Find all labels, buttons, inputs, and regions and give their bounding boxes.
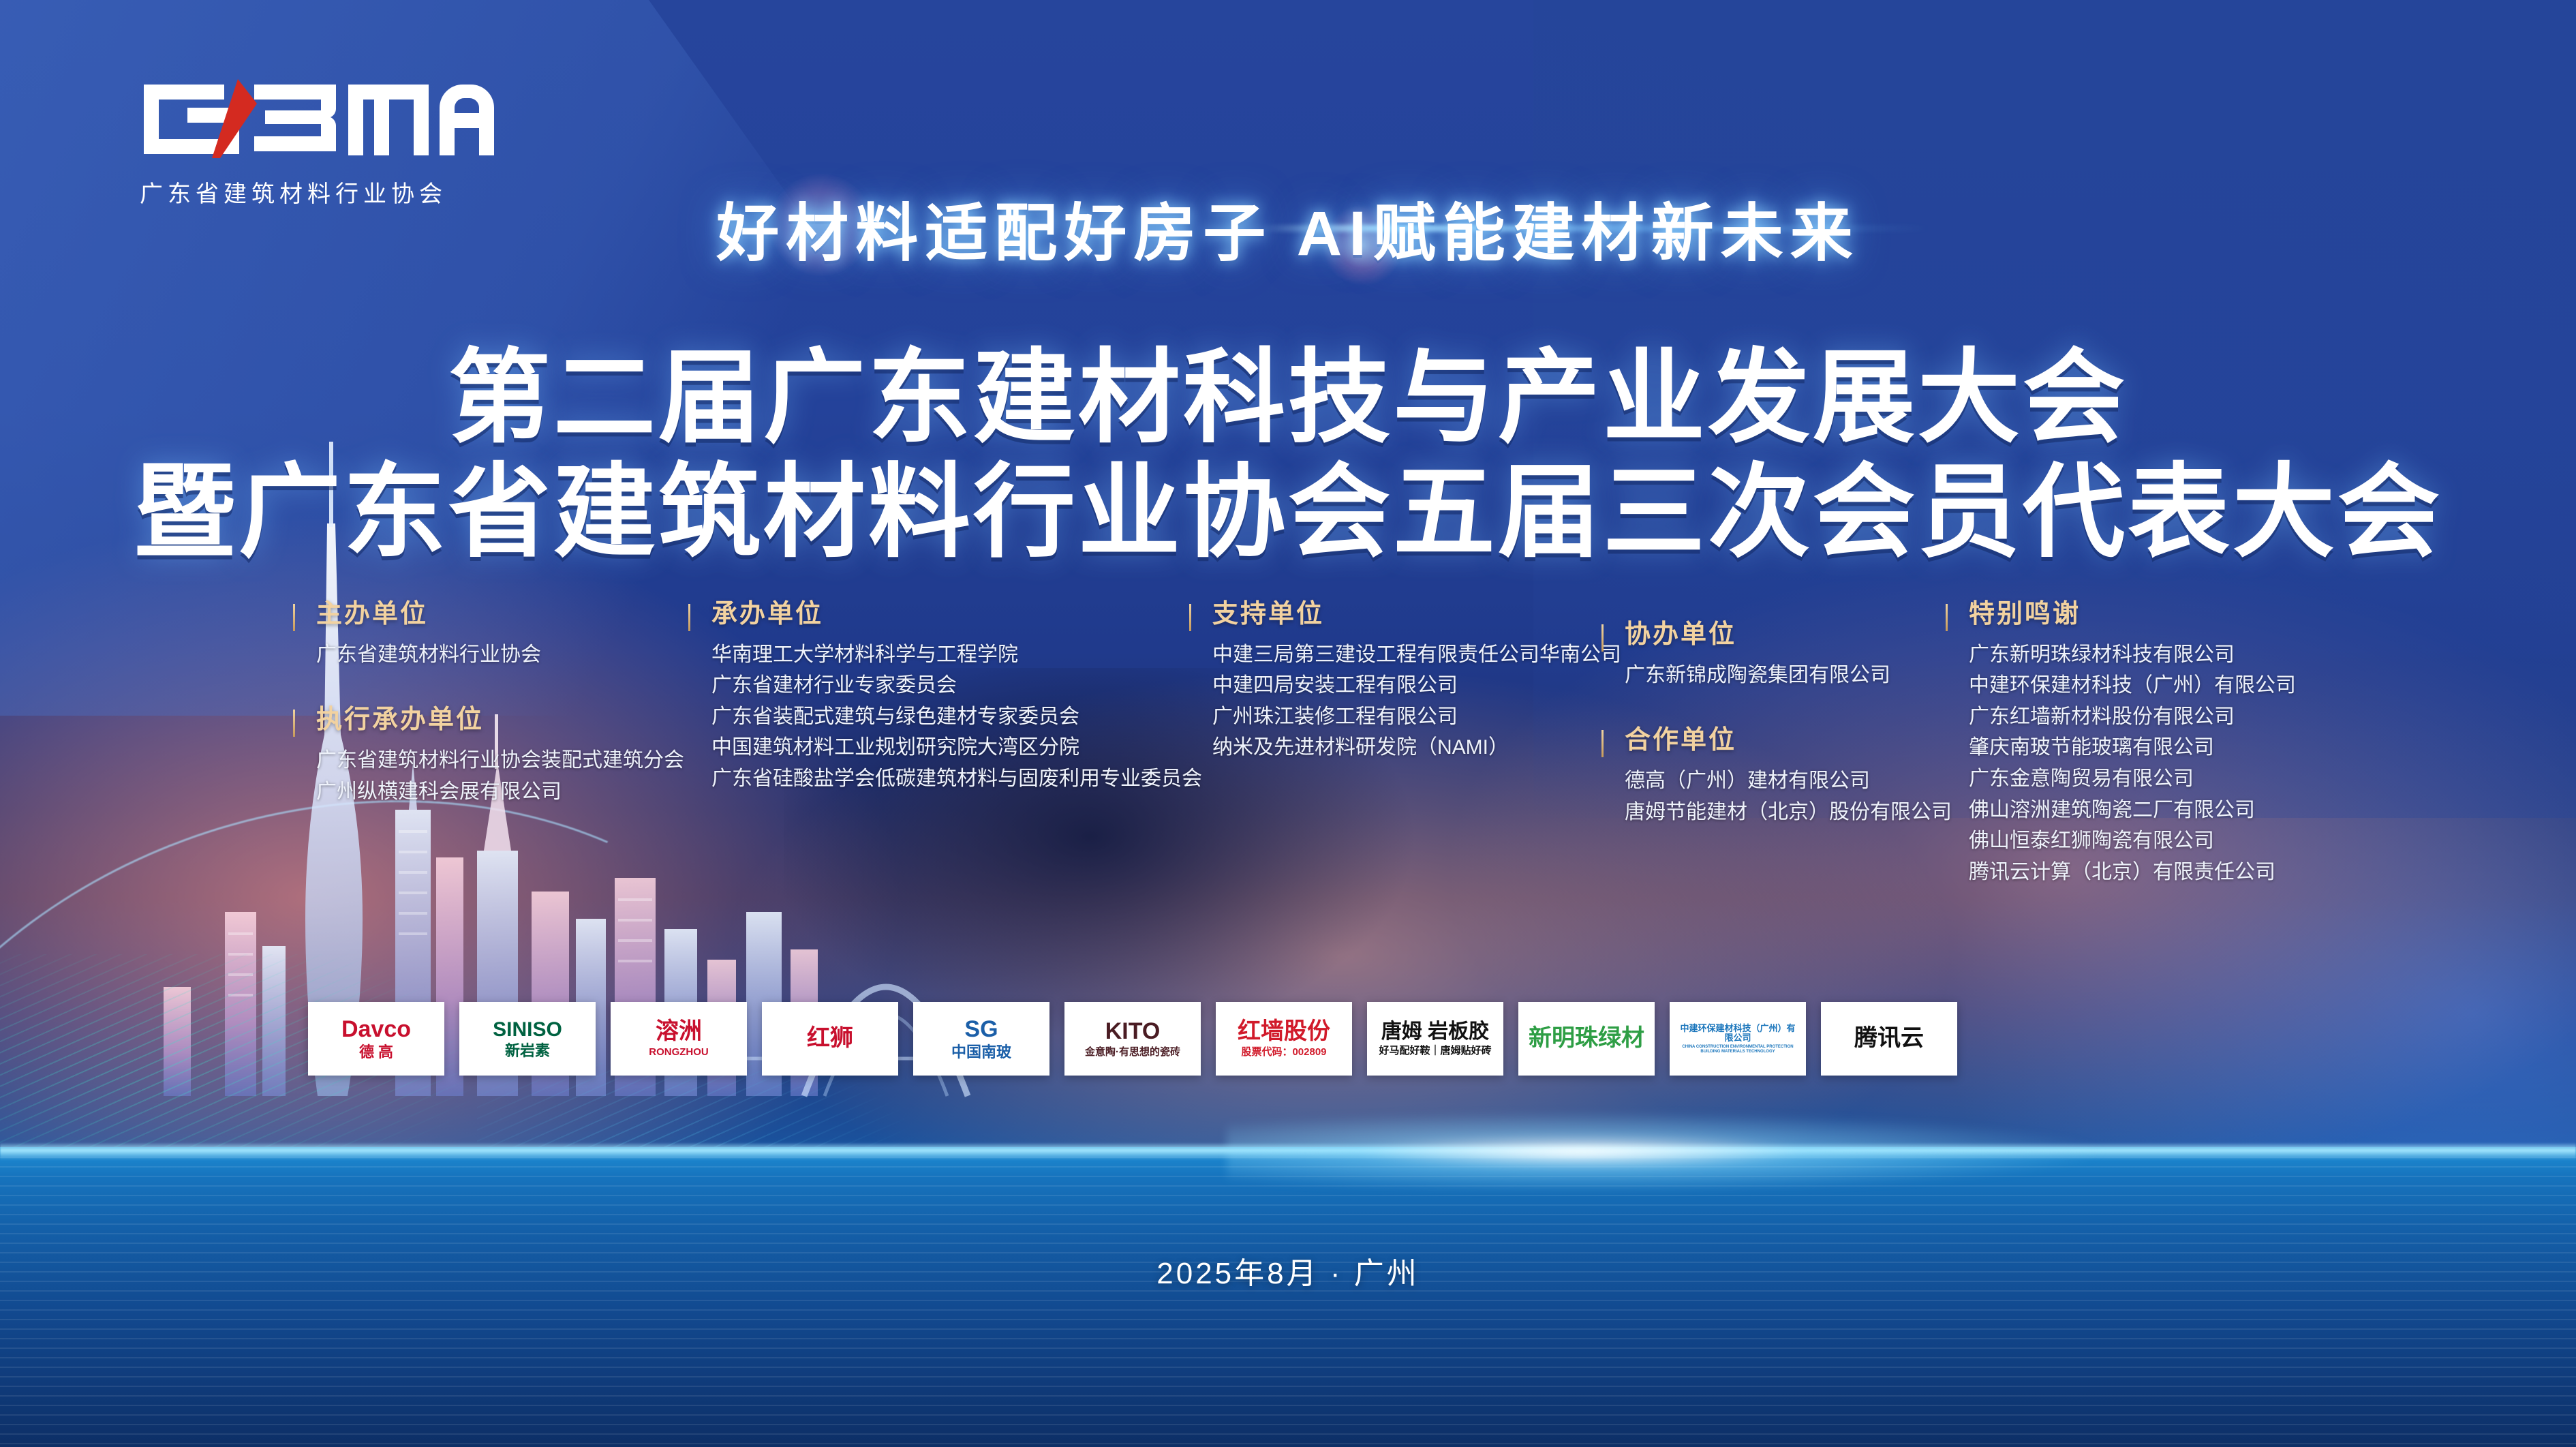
organizer-group-heading: 协办单位	[1625, 620, 1952, 650]
organizer-item: 广东红墙新材料股份有限公司	[1969, 701, 2296, 733]
sponsor-logo-secondary-text: 金意陶·有思想的瓷砖	[1085, 1047, 1180, 1058]
organizer-item: 腾讯云计算（北京）有限责任公司	[1969, 857, 2296, 888]
organizer-group-heading: 承办单位	[711, 600, 1202, 630]
organizer-item: 肇庆南玻节能玻璃有限公司	[1969, 732, 2296, 763]
organizer-item: 华南理工大学材料科学与工程学院	[711, 639, 1202, 671]
organizer-group-list: 中建三局第三建设工程有限责任公司华南公司中建四局安装工程有限公司广州珠江装修工程…	[1212, 639, 1621, 763]
sponsor-logo-secondary-text: 中国南玻	[951, 1044, 1011, 1060]
sponsor-logo-primary-text: 唐姆 岩板胶	[1379, 1021, 1491, 1043]
organizer-group-heading: 特别鸣谢	[1969, 600, 2296, 630]
organizer-column: 协办单位广东新锦成陶瓷集团有限公司合作单位德高（广州）建材有限公司唐姆节能建材（…	[1601, 620, 1952, 827]
organizer-item: 广东省硅酸盐学会低碳建筑材料与固废利用专业委员会	[711, 763, 1202, 795]
organizer-group: 执行承办单位广东省建筑材料行业协会装配式建筑分会广州纵横建科会展有限公司	[293, 705, 684, 807]
rongzhou-logo: 溶洲RONGZHOU	[611, 1002, 747, 1076]
sponsor-logo-secondary-text: 好马配好鞍｜唐姆贴好砖	[1379, 1046, 1491, 1056]
kito-logo: KITO金意陶·有思想的瓷砖	[1064, 1002, 1201, 1076]
organizer-item: 中建四局安装工程有限公司	[1212, 670, 1621, 701]
organizer-item: 广东新锦成陶瓷集团有限公司	[1625, 660, 1952, 691]
organizer-group: 主办单位广东省建筑材料行业协会	[293, 600, 684, 670]
hongqiang-logo: 红墙股份股票代码：002809	[1216, 1002, 1352, 1076]
organizer-column: 主办单位广东省建筑材料行业协会执行承办单位广东省建筑材料行业协会装配式建筑分会广…	[293, 600, 684, 807]
organizer-group: 特别鸣谢广东新明珠绿材科技有限公司中建环保建材科技（广州）有限公司广东红墙新材料…	[1946, 600, 2296, 887]
organizer-item: 德高（广州）建材有限公司	[1625, 765, 1952, 797]
organizer-item: 中国建筑材料工业规划研究院大湾区分院	[711, 732, 1202, 763]
organizer-group-list: 广东省建筑材料行业协会装配式建筑分会广州纵横建科会展有限公司	[316, 745, 684, 807]
sponsor-logo-primary-text: 新明珠绿材	[1529, 1026, 1644, 1051]
organizer-item: 广州纵横建科会展有限公司	[316, 776, 684, 808]
tangmu-logo: 唐姆 岩板胶好马配好鞍｜唐姆贴好砖	[1367, 1002, 1503, 1076]
event-title-line2: 暨广东省建筑材料行业协会五届三次会员代表大会	[0, 429, 2576, 577]
sponsor-logo-primary-text: SINISO	[493, 1019, 562, 1041]
organizer-item: 唐姆节能建材（北京）股份有限公司	[1625, 797, 1952, 828]
sponsor-logo-primary-text: SG	[951, 1018, 1011, 1042]
organizer-item: 广东省装配式建筑与绿色建材专家委员会	[711, 701, 1202, 733]
sponsor-logo-strip: Davco德 高SINISO新岩素溶洲RONGZHOU红狮SG中国南玻KITO金…	[308, 1002, 1957, 1076]
siniso-logo: SINISO新岩素	[459, 1002, 596, 1076]
organizer-item: 广东省建筑材料行业协会装配式建筑分会	[316, 745, 684, 776]
sponsor-logo-primary-text: 腾讯云	[1854, 1026, 1924, 1051]
davco-logo: Davco德 高	[308, 1002, 444, 1076]
organizer-column: 承办单位华南理工大学材料科学与工程学院广东省建材行业专家委员会广东省装配式建筑与…	[688, 600, 1202, 795]
organizer-group-heading: 合作单位	[1625, 726, 1952, 756]
honglion-logo: 红狮	[762, 1002, 898, 1076]
csg-nanbo-logo: SG中国南玻	[913, 1002, 1049, 1076]
tencent-cloud-logo: 腾讯云	[1821, 1002, 1957, 1076]
organizer-item: 中建三局第三建设工程有限责任公司华南公司	[1212, 639, 1621, 671]
xinmingzhu-logo: 新明珠绿材	[1518, 1002, 1655, 1076]
organizer-group: 协办单位广东新锦成陶瓷集团有限公司	[1601, 620, 1952, 690]
organizer-group-list: 德高（广州）建材有限公司唐姆节能建材（北京）股份有限公司	[1625, 765, 1952, 827]
sponsor-logo-secondary-text: 新岩素	[493, 1043, 562, 1058]
event-tagline: 好材料适配好房子 AI赋能建材新未来	[0, 183, 2576, 273]
sponsor-logo-primary-text: Davco	[341, 1018, 411, 1042]
organizer-group-list: 华南理工大学材料科学与工程学院广东省建材行业专家委员会广东省装配式建筑与绿色建材…	[711, 639, 1202, 795]
sponsor-logo-primary-text: KITO	[1085, 1020, 1180, 1044]
horizon-glow	[1227, 1111, 2113, 1193]
organizer-item: 佛山溶洲建筑陶瓷二厂有限公司	[1969, 795, 2296, 826]
sponsor-logo-primary-text: 红墙股份	[1238, 1020, 1330, 1044]
organizer-item: 纳米及先进材料研发院（NAMI）	[1212, 732, 1621, 763]
organizer-group: 支持单位中建三局第三建设工程有限责任公司华南公司中建四局安装工程有限公司广州珠江…	[1189, 600, 1621, 763]
event-date-location: 2025年8月 · 广州	[0, 1249, 2576, 1292]
organizer-item: 广东金意陶贸易有限公司	[1969, 763, 2296, 795]
organizer-item: 广东省建筑材料行业协会	[316, 639, 684, 671]
organizer-column: 支持单位中建三局第三建设工程有限责任公司华南公司中建四局安装工程有限公司广州珠江…	[1189, 600, 1621, 763]
organizer-group-heading: 主办单位	[316, 600, 684, 630]
organizer-columns: 主办单位广东省建筑材料行业协会执行承办单位广东省建筑材料行业协会装配式建筑分会广…	[0, 600, 2576, 900]
sponsor-logo-primary-text: 红狮	[807, 1026, 853, 1051]
organizer-item: 广东省建材行业专家委员会	[711, 670, 1202, 701]
organizer-group-list: 广东省建筑材料行业协会	[316, 639, 684, 671]
sponsor-logo-primary-text: 中建环保建材科技（广州）有限公司	[1676, 1024, 1799, 1042]
organizer-item: 广州珠江装修工程有限公司	[1212, 701, 1621, 733]
organizer-item: 佛山恒泰红狮陶瓷有限公司	[1969, 825, 2296, 857]
organizer-column: 特别鸣谢广东新明珠绿材科技有限公司中建环保建材科技（广州）有限公司广东红墙新材料…	[1946, 600, 2296, 887]
sponsor-logo-primary-text: 溶洲	[649, 1020, 709, 1044]
organizer-item: 中建环保建材科技（广州）有限公司	[1969, 670, 2296, 701]
conference-banner: 广东省建筑材料行业协会 好材料适配好房子 AI赋能建材新未来 第二届广东建材科技…	[0, 0, 2576, 1447]
organizer-group: 承办单位华南理工大学材料科学与工程学院广东省建材行业专家委员会广东省装配式建筑与…	[688, 600, 1202, 795]
organizer-group-heading: 执行承办单位	[316, 705, 684, 735]
sponsor-logo-secondary-text: RONGZHOU	[649, 1047, 709, 1058]
gbma-logo-icon	[140, 75, 494, 164]
sponsor-logo-secondary-text: 德 高	[341, 1044, 411, 1060]
organizer-group: 合作单位德高（广州）建材有限公司唐姆节能建材（北京）股份有限公司	[1601, 726, 1952, 827]
organizer-group-list: 广东新锦成陶瓷集团有限公司	[1625, 660, 1952, 691]
sponsor-logo-secondary-text: 股票代码：002809	[1238, 1047, 1330, 1058]
organizer-group-list: 广东新明珠绿材科技有限公司中建环保建材科技（广州）有限公司广东红墙新材料股份有限…	[1969, 639, 2296, 888]
sponsor-logo-secondary-text: CHINA CONSTRUCTION ENVIRONMENTAL PROTECT…	[1676, 1045, 1799, 1054]
zhongjian-hb-logo: 中建环保建材科技（广州）有限公司CHINA CONSTRUCTION ENVIR…	[1670, 1002, 1806, 1076]
organizer-item: 广东新明珠绿材科技有限公司	[1969, 639, 2296, 671]
organizer-group-heading: 支持单位	[1212, 600, 1621, 630]
